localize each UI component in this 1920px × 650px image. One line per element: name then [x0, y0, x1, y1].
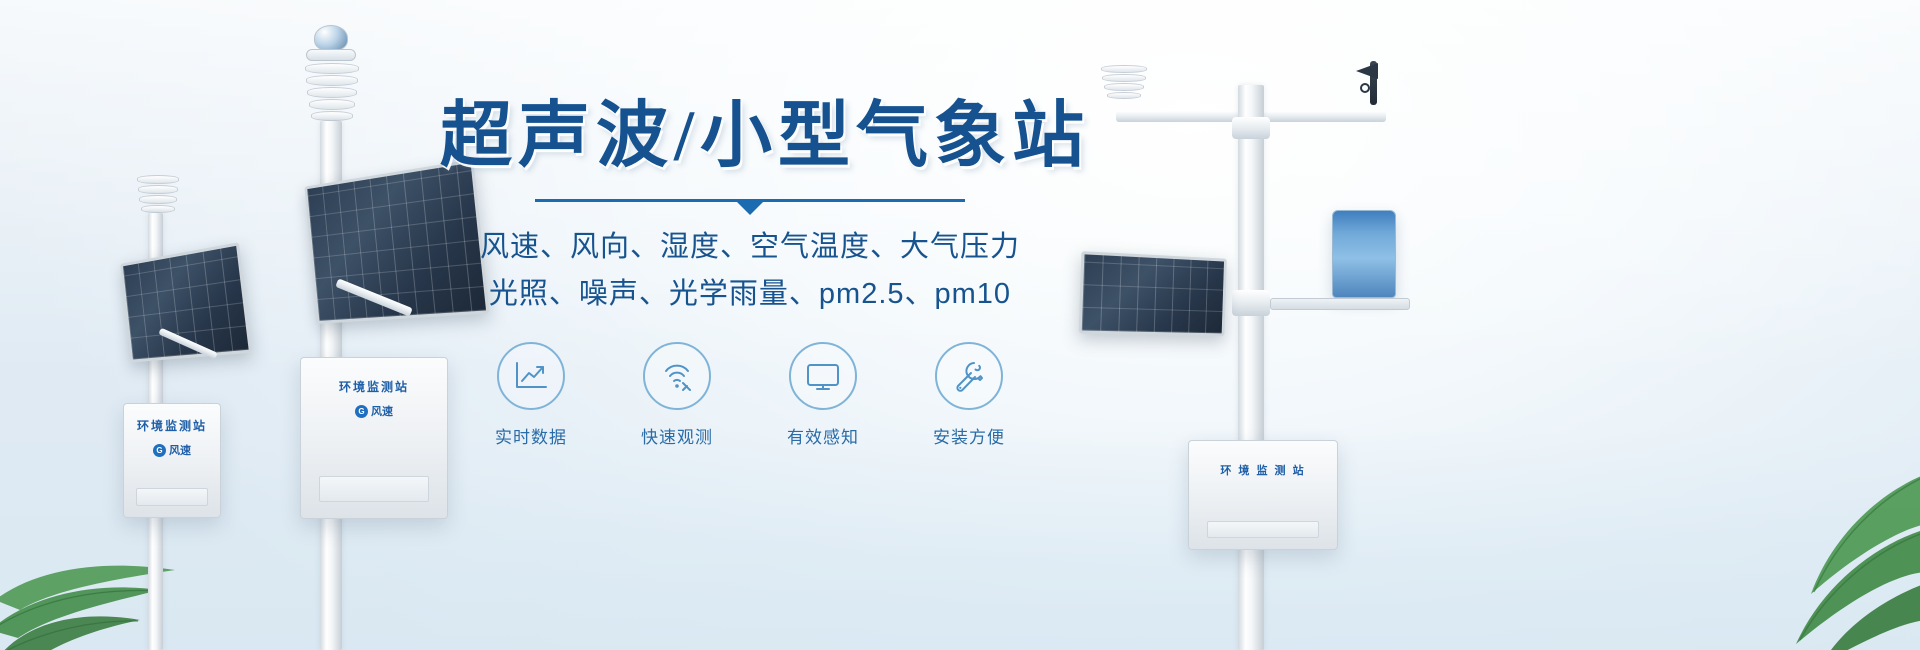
cabinet-left-brand: G 风速 — [153, 442, 191, 458]
cabinet-left-small: 环境监测站 G 风速 — [123, 403, 221, 518]
feature-item-realtime-data[interactable]: 实时数据 — [483, 342, 579, 448]
leaf-decoration-right — [1626, 434, 1920, 650]
feature-list: 实时数据 快速观测 — [440, 342, 1060, 448]
wind-vane-fin — [1356, 63, 1378, 79]
radiation-shield-center — [304, 63, 360, 121]
monitor-icon — [805, 361, 841, 391]
subtitle-line-1: 风速、风向、湿度、空气温度、大气压力 — [440, 224, 1060, 271]
hero-banner: 环境监测站 G 风速 环境监测站 — [0, 0, 1920, 650]
weather-station-right: 环 境 监 测 站 — [1060, 55, 1490, 650]
feature-circle — [643, 342, 711, 410]
ultrasonic-sensor-top — [306, 49, 356, 61]
mast-pole-right — [1238, 85, 1264, 650]
feature-label: 有效感知 — [775, 423, 871, 448]
anemometer-cup-icon — [1360, 83, 1370, 93]
cabinet-right-label: 环 境 监 测 站 — [1220, 462, 1305, 478]
cabinet-center-vent — [319, 476, 430, 502]
cabinet-left-label: 环境监测站 — [137, 417, 207, 434]
mast-collar-lower — [1232, 290, 1270, 316]
line-chart-icon — [513, 360, 549, 392]
cabinet-right-vent — [1207, 521, 1319, 538]
optical-rain-gauge — [1332, 210, 1396, 298]
feature-circle — [935, 342, 1003, 410]
cabinet-center-label: 环境监测站 — [339, 378, 409, 395]
mast-collar-upper — [1232, 117, 1270, 139]
wireless-signal-icon — [659, 359, 695, 393]
feature-label: 安装方便 — [921, 423, 1017, 448]
cabinet-center-brand: G 风速 — [355, 403, 393, 419]
feature-item-easy-install[interactable]: 安装方便 — [921, 342, 1017, 448]
title-divider — [535, 199, 965, 202]
wrench-icon — [951, 359, 987, 393]
feature-label: 实时数据 — [483, 423, 579, 448]
hero-copy: 超声波/小型气象站 风速、风向、湿度、空气温度、大气压力 光照、噪声、光学雨量、… — [440, 96, 1060, 448]
down-triangle-icon — [737, 202, 763, 215]
feature-circle — [789, 342, 857, 410]
subtitle-group: 风速、风向、湿度、空气温度、大气压力 光照、噪声、光学雨量、pm2.5、pm10 — [440, 224, 1060, 318]
feature-item-effective-sensing[interactable]: 有效感知 — [775, 342, 871, 448]
page-title: 超声波/小型气象站 — [440, 96, 1060, 177]
subtitle-line-2: 光照、噪声、光学雨量、pm2.5、pm10 — [440, 271, 1060, 318]
pyranometer-dome — [314, 25, 348, 51]
feature-item-fast-observation[interactable]: 快速观测 — [629, 342, 725, 448]
cabinet-left-vent — [136, 488, 209, 506]
rain-gauge-shelf — [1270, 298, 1410, 310]
brand-mark-icon: G — [355, 405, 368, 418]
radiation-shield-left — [135, 175, 181, 213]
solar-panel-right — [1079, 251, 1227, 336]
cabinet-center: 环境监测站 G 风速 — [300, 357, 448, 519]
brand-mark-icon: G — [153, 444, 166, 457]
cabinet-right: 环 境 监 测 站 — [1188, 440, 1338, 550]
feature-circle — [497, 342, 565, 410]
weather-station-left-small: 环境监测站 G 风速 — [105, 175, 280, 650]
feature-label: 快速观测 — [629, 423, 725, 448]
ultrasonic-wind-sensor-right — [1100, 65, 1148, 99]
cabinet-center-brand-text: 风速 — [371, 403, 393, 419]
cabinet-left-brand-text: 风速 — [169, 442, 191, 458]
